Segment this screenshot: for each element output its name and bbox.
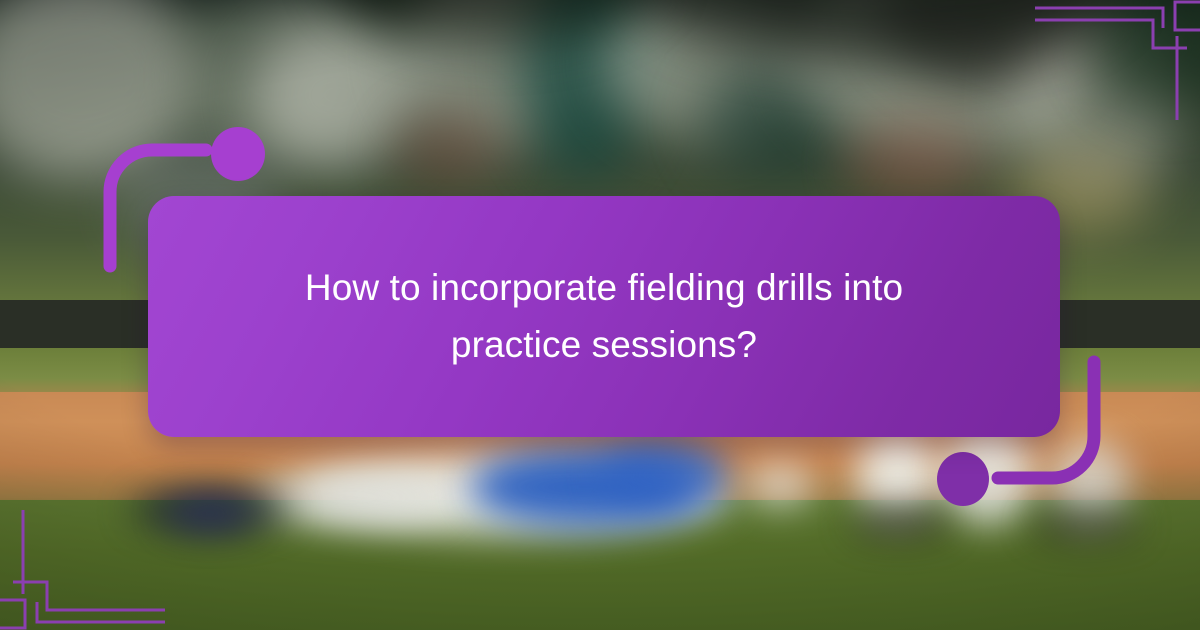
card-title: How to incorporate fielding drills into …: [279, 260, 929, 372]
dot-bottom-right: [937, 452, 989, 506]
dot-top-left: [211, 127, 265, 181]
question-card: How to incorporate fielding drills into …: [148, 196, 1060, 437]
share-card-canvas: How to incorporate fielding drills into …: [0, 0, 1200, 630]
